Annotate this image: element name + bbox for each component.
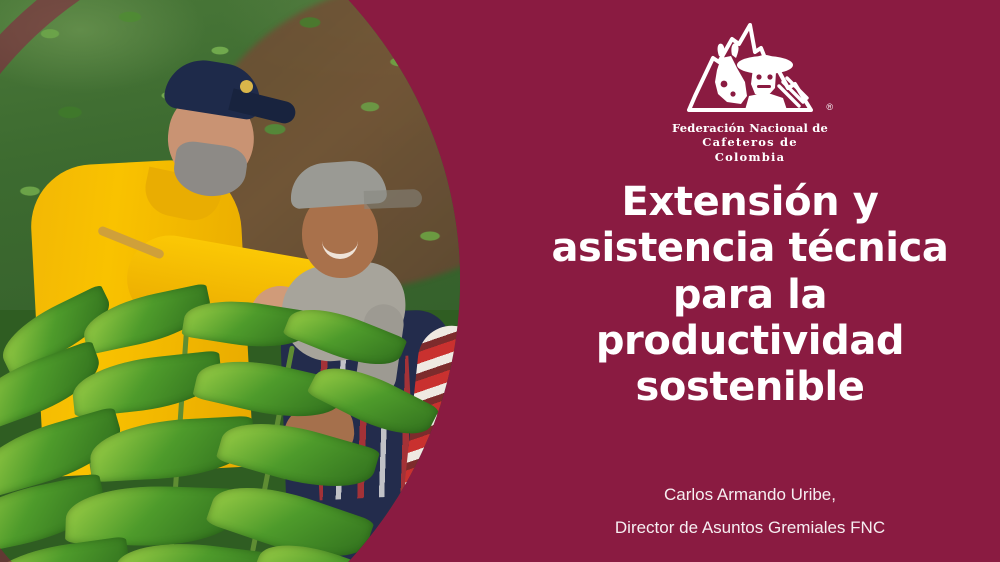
farmer-sleeve-cuff: [423, 476, 491, 530]
juan-valdez-triangle-icon: ®: [675, 22, 825, 118]
slide-title: Extensión y asistencia técnica para la p…: [508, 179, 992, 411]
hero-photo: [0, 0, 500, 562]
speaker-role: Director de Asuntos Gremiales FNC: [520, 511, 980, 544]
fnc-logo: ® Federación Nacional de Cafeteros de Co…: [665, 22, 835, 164]
farmer-cap-brim: [364, 189, 423, 209]
title-line-3: para la: [508, 272, 992, 318]
photo-canvas: [0, 0, 500, 562]
presentation-slide: ® Federación Nacional de Cafeteros de Co…: [0, 0, 1000, 562]
title-line-4: productividad: [508, 318, 992, 364]
fnc-wordmark: Federación Nacional de Cafeteros de Colo…: [665, 121, 835, 164]
speaker-byline: Carlos Armando Uribe, Director de Asunto…: [520, 478, 980, 544]
coffee-leaf: [282, 295, 407, 378]
title-line-2: asistencia técnica: [508, 225, 992, 271]
content-panel: ® Federación Nacional de Cafeteros de Co…: [500, 0, 1000, 562]
title-line-1: Extensión y: [508, 179, 992, 225]
speaker-name: Carlos Armando Uribe,: [520, 478, 980, 511]
title-line-5: sostenible: [508, 364, 992, 410]
foreground-coffee-plant: [0, 300, 440, 562]
fnc-wordmark-line-1: Federación Nacional de: [665, 121, 835, 135]
fnc-wordmark-line-2: Cafeteros de Colombia: [665, 135, 835, 164]
registered-trademark-symbol: ®: [826, 103, 833, 112]
